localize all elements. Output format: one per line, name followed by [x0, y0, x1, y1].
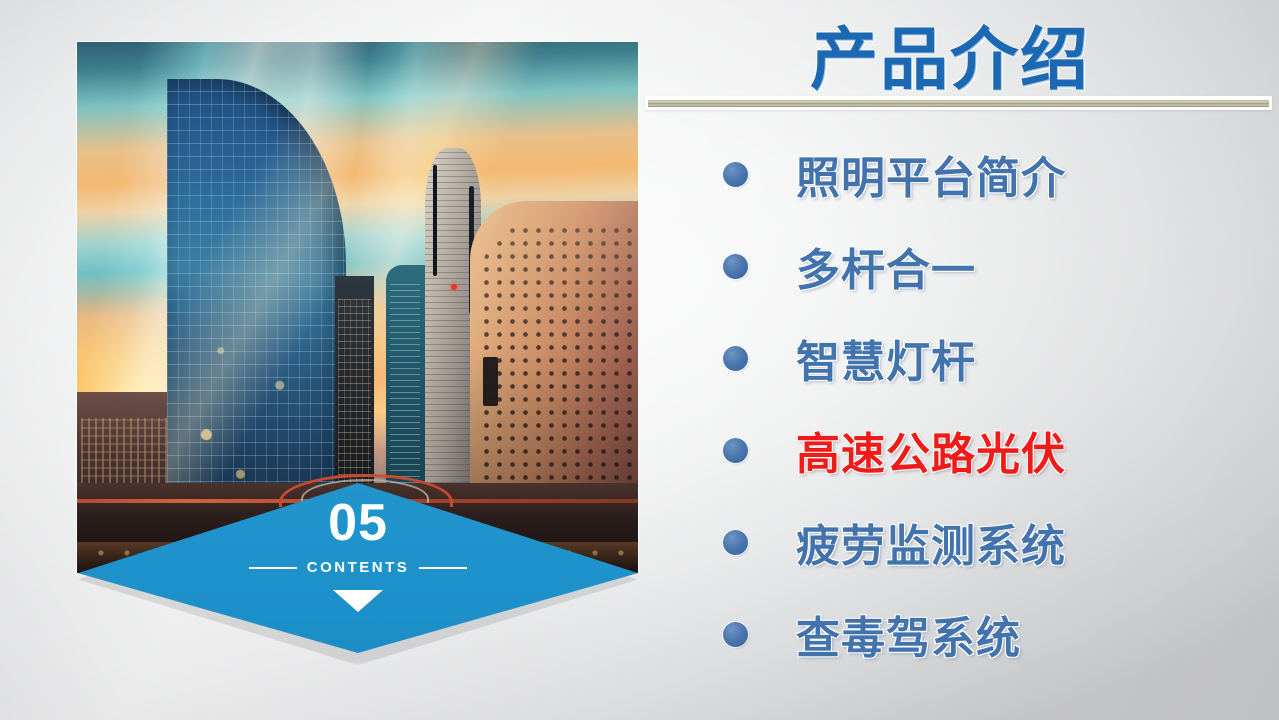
building-beacon-light	[451, 284, 457, 290]
list-item[interactable]: 疲劳监测系统	[655, 496, 1275, 588]
title-divider	[645, 96, 1272, 110]
list-item-label: 多杆合一	[796, 234, 976, 298]
list-item-label: 查毒驾系统	[796, 602, 1021, 666]
building-slot-left	[433, 165, 437, 275]
list-item[interactable]: 智慧灯杆	[655, 312, 1275, 404]
presentation-slide: 05 CONTENTS 产品介绍 照明平台简介 多杆合一 智慧灯杆 高速公路光伏	[0, 0, 1279, 720]
title-divider-inner	[648, 100, 1269, 107]
bullet-icon	[723, 622, 748, 647]
bullet-icon	[723, 346, 748, 371]
list-item[interactable]: 多杆合一	[655, 220, 1275, 312]
list-item-label: 智慧灯杆	[796, 326, 976, 390]
list-item[interactable]: 查毒驾系统	[655, 588, 1275, 680]
list-item-label: 疲劳监测系统	[796, 510, 1066, 574]
bullet-icon	[723, 530, 748, 555]
list-item[interactable]: 照明平台简介	[655, 128, 1275, 220]
list-item-label: 高速公路光伏	[796, 418, 1066, 482]
list-item-active[interactable]: 高速公路光伏	[655, 404, 1275, 496]
list-item-label: 照明平台简介	[796, 142, 1066, 206]
page-title: 产品介绍	[640, 4, 1260, 103]
contents-list: 照明平台简介 多杆合一 智慧灯杆 高速公路光伏 疲劳监测系统 查毒驾系统	[655, 128, 1275, 680]
bullet-icon	[723, 162, 748, 187]
bullet-icon	[723, 254, 748, 279]
bullet-icon	[723, 438, 748, 463]
